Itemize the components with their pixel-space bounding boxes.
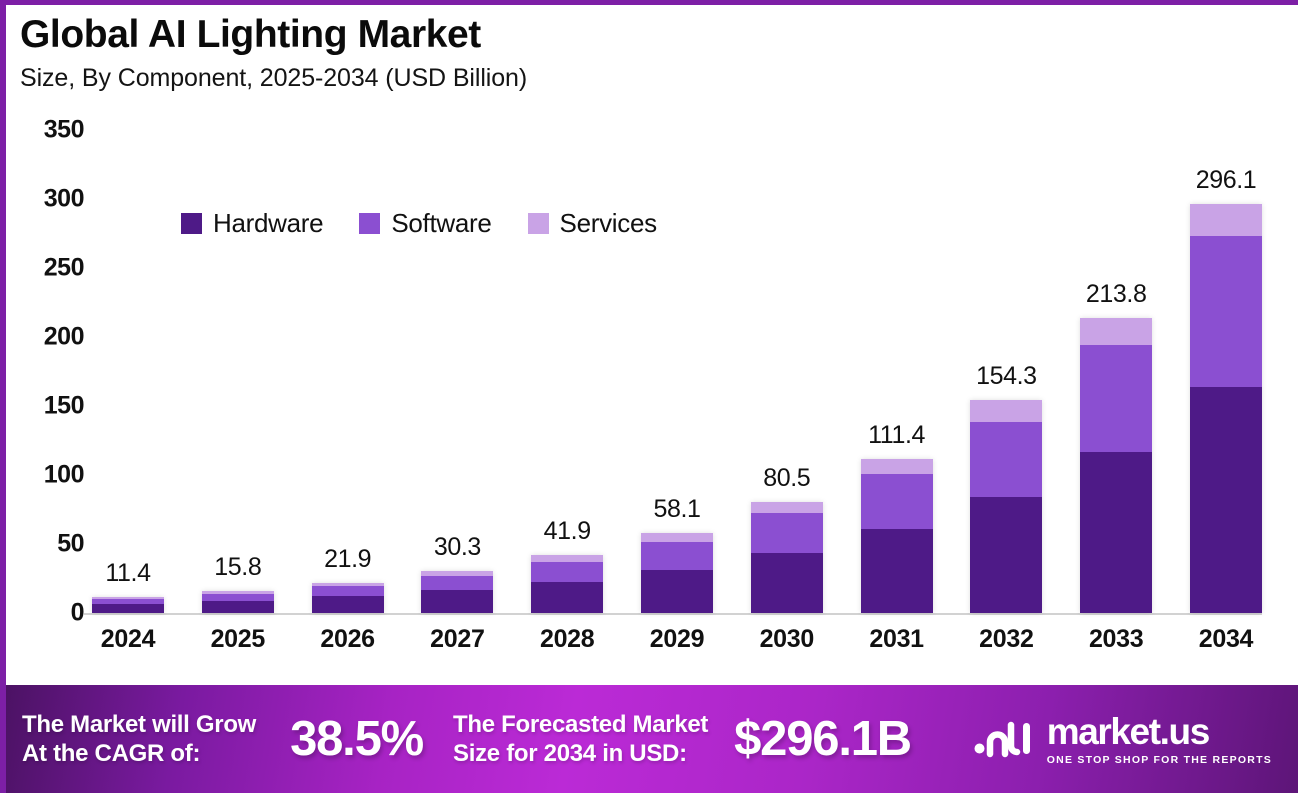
- cagr-caption-line2: At the CAGR of:: [22, 740, 200, 767]
- page-subtitle: Size, By Component, 2025-2034 (USD Billi…: [20, 65, 920, 93]
- chart-header: Global AI Lighting Market Size, By Compo…: [20, 14, 920, 93]
- bar-segment-hardware[interactable]: [421, 590, 493, 613]
- logo-tagline: ONE STOP SHOP FOR THE REPORTS: [1047, 754, 1272, 766]
- bar-total-label: 30.3: [434, 533, 481, 562]
- x-axis-label: 2026: [312, 625, 384, 654]
- bar-stack[interactable]: [421, 571, 493, 613]
- forecast-caption-line1: The Forecasted Market: [453, 711, 708, 738]
- page-title: Global AI Lighting Market: [20, 14, 920, 56]
- bar-stack[interactable]: [92, 597, 164, 613]
- bar-segment-services[interactable]: [751, 502, 823, 513]
- bar-total-label: 154.3: [976, 362, 1037, 391]
- bar-segment-software[interactable]: [641, 542, 713, 570]
- bar-stack[interactable]: [1190, 204, 1262, 613]
- bar-segment-software[interactable]: [531, 562, 603, 582]
- bar-stack[interactable]: [641, 533, 713, 613]
- cagr-caption-line1: The Market will Grow: [22, 711, 256, 738]
- bar-stack[interactable]: [202, 591, 274, 613]
- bar-chart-logo-icon: [973, 715, 1035, 764]
- cagr-caption: The Market will Grow At the CAGR of:: [22, 710, 256, 769]
- bar-group[interactable]: 154.3: [970, 130, 1042, 613]
- bar-group[interactable]: 15.8: [202, 130, 274, 613]
- x-axis-label: 2029: [641, 625, 713, 654]
- bar-segment-software[interactable]: [1080, 345, 1152, 452]
- bar-group[interactable]: 41.9: [531, 130, 603, 613]
- bar-total-label: 15.8: [214, 553, 261, 582]
- bar-segment-hardware[interactable]: [1190, 387, 1262, 613]
- bar-segment-hardware[interactable]: [641, 570, 713, 613]
- bar-stack[interactable]: [312, 583, 384, 613]
- bar-stack[interactable]: [531, 555, 603, 613]
- bar-segment-hardware[interactable]: [202, 601, 274, 613]
- bar-total-label: 296.1: [1196, 166, 1257, 195]
- summary-banner: The Market will Grow At the CAGR of: 38.…: [0, 685, 1298, 793]
- logo-name: market.us: [1047, 713, 1209, 750]
- y-axis-tick: 300: [44, 185, 84, 214]
- bar-group[interactable]: 21.9: [312, 130, 384, 613]
- infographic-root: Global AI Lighting Market Size, By Compo…: [0, 0, 1298, 793]
- forecast-caption-line2: Size for 2034 in USD:: [453, 740, 687, 767]
- x-axis-label: 2027: [421, 625, 493, 654]
- y-axis: 350300250200150100500: [6, 130, 92, 615]
- bar-group[interactable]: 80.5: [751, 130, 823, 613]
- bar-segment-services[interactable]: [970, 400, 1042, 422]
- market-us-logo[interactable]: market.us ONE STOP SHOP FOR THE REPORTS: [973, 713, 1280, 766]
- bar-segment-software[interactable]: [202, 594, 274, 601]
- y-axis-tick: 200: [44, 323, 84, 352]
- x-axis-label: 2030: [751, 625, 823, 654]
- bar-segment-services[interactable]: [641, 533, 713, 542]
- y-axis-tick: 150: [44, 392, 84, 421]
- y-axis-tick: 250: [44, 254, 84, 283]
- bar-segment-hardware[interactable]: [312, 596, 384, 613]
- bar-stack[interactable]: [1080, 318, 1152, 613]
- bar-segment-hardware[interactable]: [92, 604, 164, 613]
- forecast-value: $296.1B: [734, 711, 911, 767]
- bar-total-label: 58.1: [653, 495, 700, 524]
- bar-total-label: 11.4: [105, 559, 150, 588]
- bar-group[interactable]: 30.3: [421, 130, 493, 613]
- y-axis-tick: 350: [44, 116, 84, 145]
- bar-segment-software[interactable]: [421, 576, 493, 590]
- x-axis-label: 2025: [202, 625, 274, 654]
- x-axis-label: 2033: [1080, 625, 1152, 654]
- bar-stack[interactable]: [970, 400, 1042, 613]
- forecast-caption: The Forecasted Market Size for 2034 in U…: [453, 710, 708, 769]
- bar-group[interactable]: 111.4: [861, 130, 933, 613]
- x-axis-label: 2032: [970, 625, 1042, 654]
- chart-plot-area: 350300250200150100500 HardwareSoftwareSe…: [6, 130, 1298, 675]
- bar-segment-services[interactable]: [1190, 204, 1262, 236]
- x-axis-line: [84, 613, 1262, 615]
- y-axis-tick: 50: [57, 530, 84, 559]
- bar-total-label: 80.5: [763, 464, 810, 493]
- bar-total-label: 111.4: [868, 421, 925, 450]
- bar-segment-software[interactable]: [312, 586, 384, 596]
- bar-group[interactable]: 296.1: [1190, 130, 1262, 613]
- logo-wordmark: market.us ONE STOP SHOP FOR THE REPORTS: [1047, 713, 1272, 766]
- bar-series-container: 11.415.821.930.341.958.180.5111.4154.321…: [92, 130, 1262, 613]
- x-axis-label: 2028: [531, 625, 603, 654]
- cagr-value: 38.5%: [290, 711, 423, 767]
- bar-stack[interactable]: [751, 502, 823, 613]
- bar-segment-hardware[interactable]: [970, 497, 1042, 613]
- bar-segment-hardware[interactable]: [1080, 452, 1152, 613]
- y-axis-tick: 0: [71, 599, 84, 628]
- x-axis-labels: 2024202520262027202820292030203120322033…: [92, 625, 1262, 654]
- bar-total-label: 41.9: [544, 517, 591, 546]
- bar-segment-software[interactable]: [1190, 236, 1262, 386]
- bar-total-label: 213.8: [1086, 280, 1147, 309]
- bar-segment-services[interactable]: [861, 459, 933, 474]
- x-axis-label: 2034: [1190, 625, 1262, 654]
- x-axis-label: 2024: [92, 625, 164, 654]
- y-axis-tick: 100: [44, 461, 84, 490]
- bar-stack[interactable]: [861, 459, 933, 613]
- bar-total-label: 21.9: [324, 545, 371, 574]
- bar-segment-services[interactable]: [1080, 318, 1152, 345]
- bar-group[interactable]: 58.1: [641, 130, 713, 613]
- x-axis-label: 2031: [861, 625, 933, 654]
- bar-segment-hardware[interactable]: [861, 529, 933, 613]
- bar-segment-hardware[interactable]: [531, 582, 603, 613]
- bar-group[interactable]: 213.8: [1080, 130, 1152, 613]
- bar-segment-software[interactable]: [861, 474, 933, 529]
- bar-group[interactable]: 11.4: [92, 130, 164, 613]
- bar-segment-hardware[interactable]: [751, 553, 823, 613]
- bar-segment-software[interactable]: [970, 422, 1042, 497]
- bar-segment-software[interactable]: [751, 513, 823, 552]
